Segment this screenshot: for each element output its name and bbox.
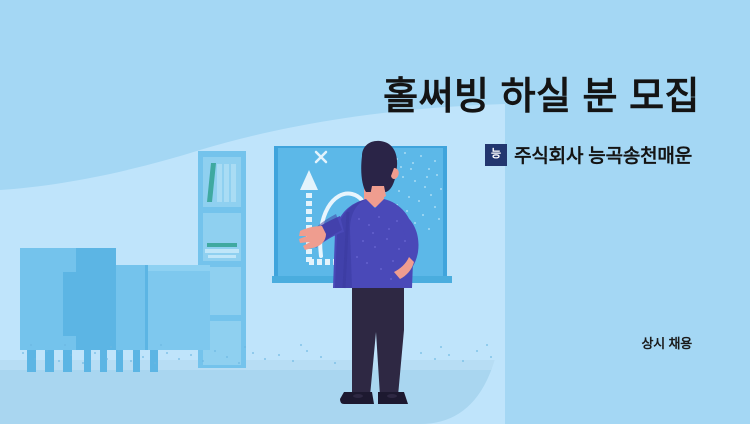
job-posting-poster: 홀써빙 하실 분 모집 능 주식회사 능곡송천매운 상시 채용 [0, 0, 750, 424]
company-name: 주식회사 능곡송천매운 [514, 141, 692, 168]
company-row: 능 주식회사 능곡송천매운 [420, 141, 692, 168]
page-title: 홀써빙 하실 분 모집 [330, 76, 700, 120]
office-illustration [0, 0, 520, 424]
employment-type-label: 상시 채용 [500, 333, 692, 352]
company-logo-badge: 능 [485, 144, 507, 166]
